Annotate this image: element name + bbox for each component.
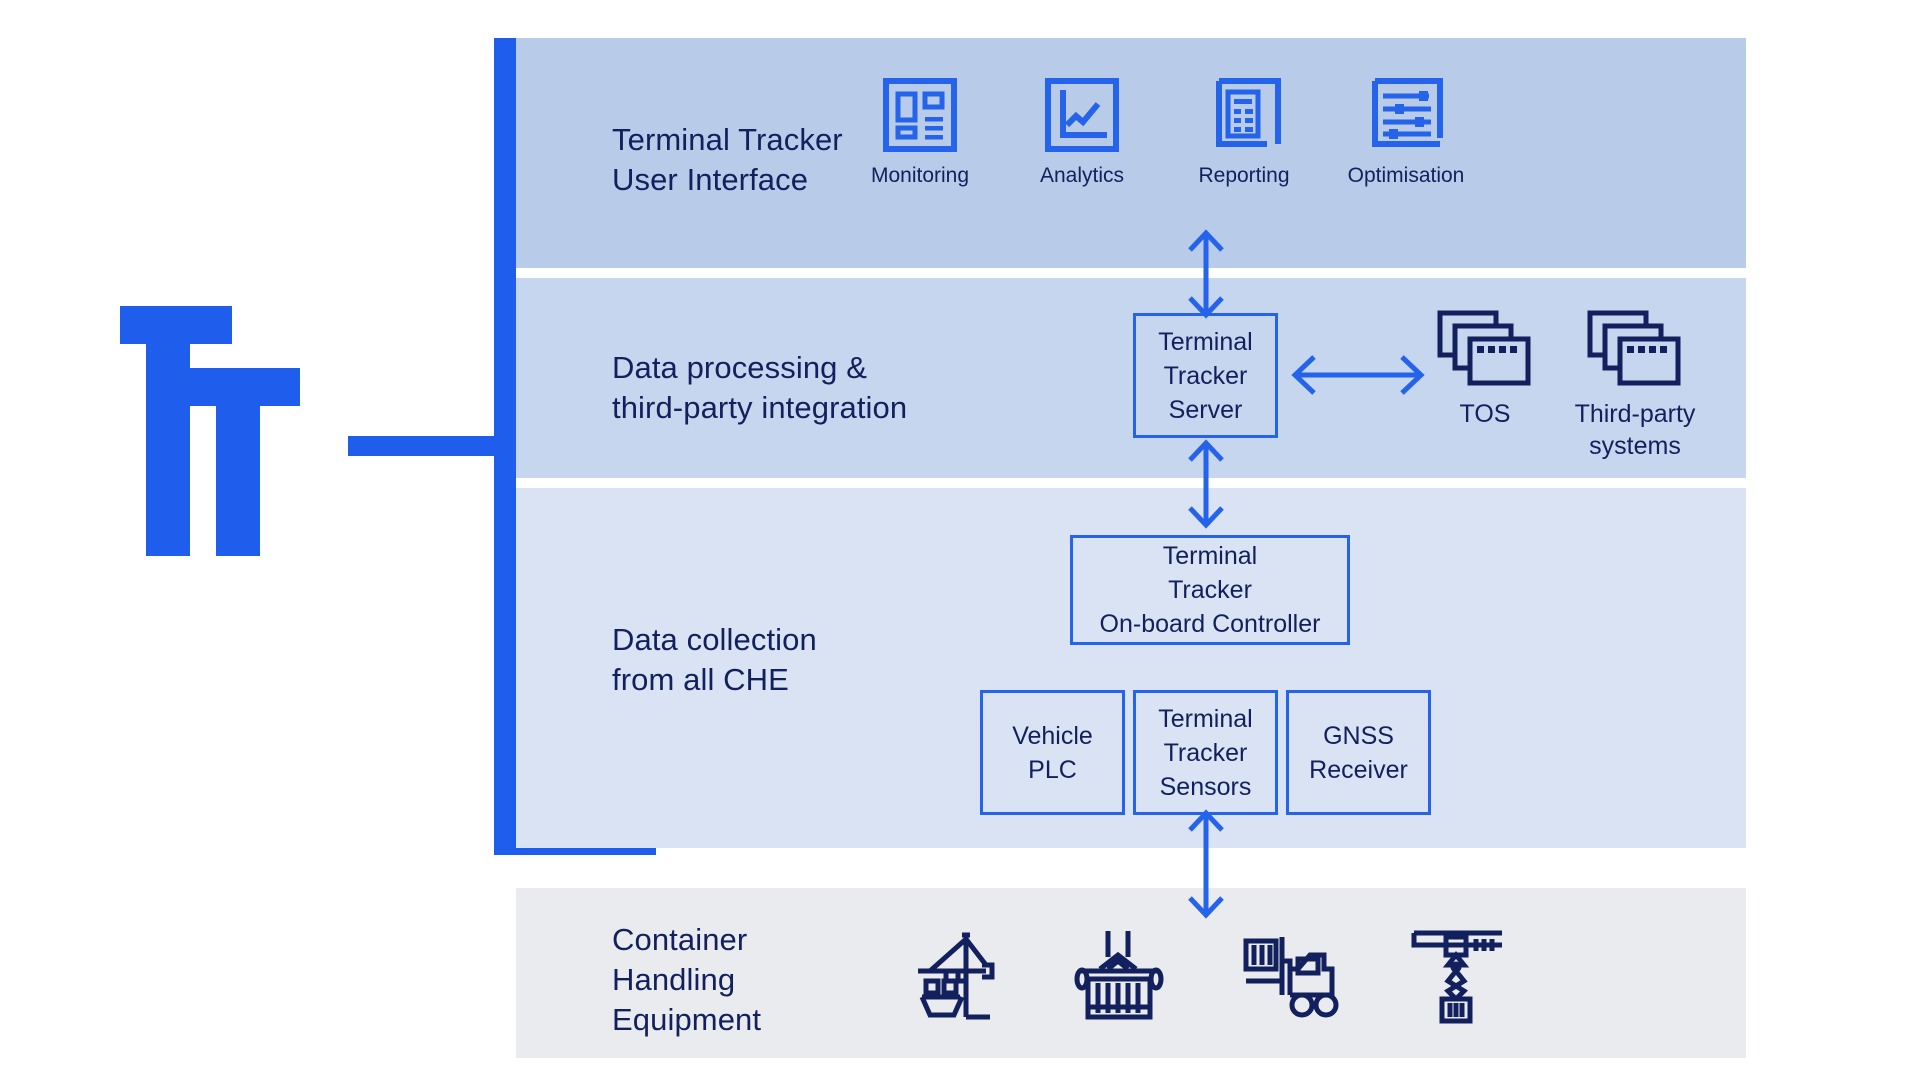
ui-feature-reporting[interactable]: Reporting [1204, 78, 1284, 188]
diagram-canvas: Terminal Tracker User Interface Monitori… [0, 0, 1920, 1080]
system-label: Third-party systems [1575, 398, 1696, 462]
box-onboard-controller[interactable]: Terminal Tracker On-board Controller [1070, 535, 1350, 645]
box-gnss-receiver[interactable]: GNSS Receiver [1286, 690, 1431, 815]
bracket-logo-connector [348, 436, 516, 456]
box-vehicle-plc[interactable]: Vehicle PLC [980, 690, 1125, 815]
optimisation-sliders-icon [1369, 78, 1443, 152]
arrow-ui-to-processing [1180, 228, 1232, 320]
band-title-data-processing: Data processing & third-party integratio… [612, 348, 907, 428]
band-title-user-interface: Terminal Tracker User Interface [612, 120, 843, 200]
ui-feature-label: Optimisation [1348, 164, 1465, 188]
ship-to-shore-crane-icon [900, 925, 1000, 1025]
box-terminal-tracker-server[interactable]: Terminal Tracker Server [1133, 313, 1278, 438]
terminal-tracker-logo [120, 306, 300, 556]
stacked-windows-icon [1587, 310, 1683, 386]
ui-feature-label: Reporting [1198, 164, 1289, 188]
gantry-crane-icon [1410, 925, 1510, 1025]
analytics-line-chart-icon [1045, 78, 1119, 152]
arrow-sensors-to-che [1180, 808, 1232, 920]
reach-stacker-forklift-icon [1240, 925, 1340, 1025]
system-label: TOS [1460, 398, 1511, 430]
system-third-party[interactable]: Third-party systems [1560, 310, 1710, 462]
ui-feature-optimisation[interactable]: Optimisation [1366, 78, 1446, 188]
stacked-windows-icon [1437, 310, 1533, 386]
band-title-che: Container Handling Equipment [612, 920, 761, 1040]
container-spreader-icon [1070, 925, 1170, 1025]
ui-feature-label: Monitoring [871, 164, 969, 188]
box-terminal-tracker-sensors[interactable]: Terminal Tracker Sensors [1133, 690, 1278, 815]
ui-feature-analytics[interactable]: Analytics [1042, 78, 1122, 188]
system-tos[interactable]: TOS [1425, 310, 1545, 430]
monitoring-dashboard-icon [883, 78, 957, 152]
arrow-processing-to-controller [1180, 438, 1232, 530]
reporting-document-icon [1207, 78, 1281, 152]
ui-feature-label: Analytics [1040, 164, 1124, 188]
ui-feature-monitoring[interactable]: Monitoring [880, 78, 960, 188]
band-title-data-collection: Data collection from all CHE [612, 620, 817, 700]
che-icon-row [900, 925, 1510, 1025]
ui-feature-icon-row: Monitoring Analytics [880, 78, 1446, 188]
arrow-server-to-tos [1288, 345, 1428, 405]
